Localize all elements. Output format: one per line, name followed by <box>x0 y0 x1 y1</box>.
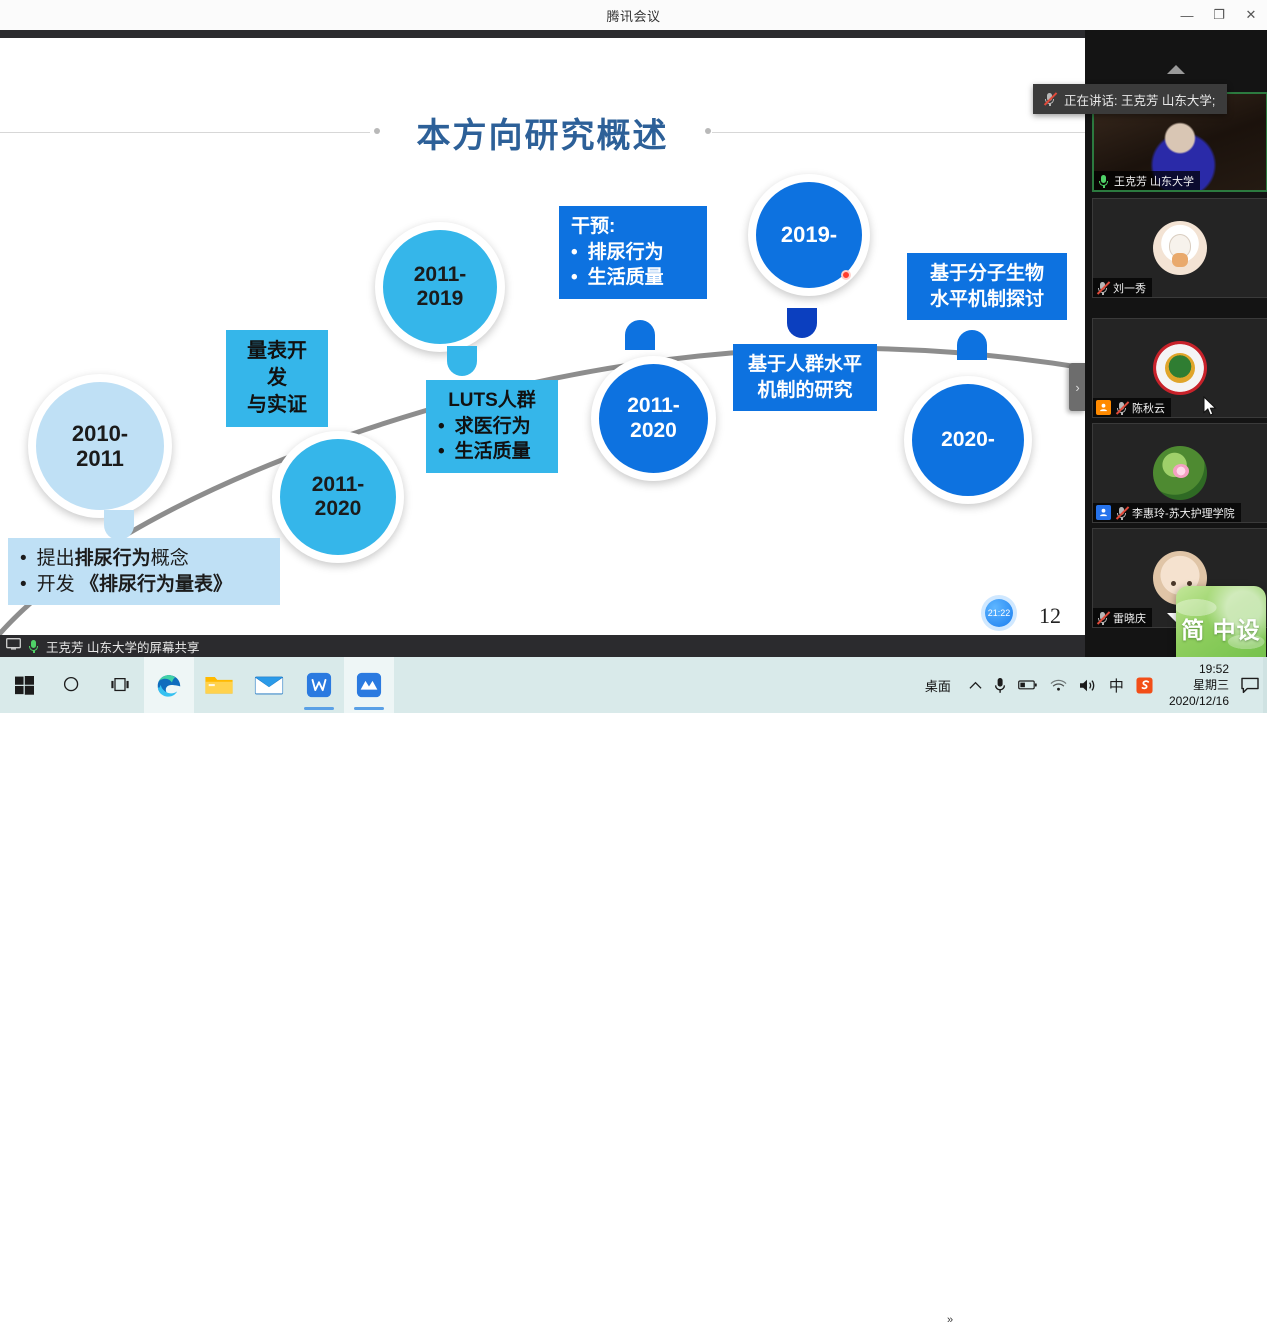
microphone-icon <box>1097 174 1110 188</box>
box-population-level-line2: 机制的研究 <box>745 378 865 404</box>
windows-taskbar[interactable]: » 桌面 <box>0 657 1267 713</box>
taskbar-app-file-explorer[interactable] <box>194 657 244 713</box>
taskbar-app-mail[interactable] <box>244 657 294 713</box>
box-intervention-bullets: 排尿行为 生活质量 <box>571 240 695 291</box>
microphone-icon <box>27 639 40 653</box>
taskbar-app-edge[interactable] <box>144 657 194 713</box>
list-item: 生活质量 <box>571 265 695 291</box>
box-scale-development-line1: 量表开发 <box>238 338 316 392</box>
sogou-input-icon[interactable] <box>1136 677 1153 694</box>
participant-tile-chen[interactable]: 陈秋云 <box>1092 318 1267 418</box>
box-luts[interactable]: LUTS人群 求医行为 生活质量 <box>426 380 558 473</box>
clock-time: 19:52 <box>1199 661 1229 677</box>
bubble-drip-2020 <box>957 330 987 360</box>
participant-namebar: 陈秋云 <box>1093 398 1171 417</box>
share-top-strip <box>0 30 1085 38</box>
taskbar-clock[interactable]: 19:52 星期三 2020/12/16 <box>1169 661 1229 710</box>
window-title: 腾讯会议 <box>606 6 660 25</box>
box-scale-development[interactable]: 量表开发 与实证 <box>226 330 328 427</box>
monitor-icon <box>6 637 21 655</box>
bubble-2019[interactable]: 2019- <box>748 174 870 296</box>
wps-icon <box>306 672 332 698</box>
bubble-2020[interactable]: 2020- <box>904 376 1032 504</box>
microphone-muted-icon <box>1115 401 1128 415</box>
battery-icon[interactable] <box>1018 679 1038 691</box>
meeting-window-body: 本方向研究概述 2010- 2011 2011- 2020 2011- 2019… <box>0 30 1267 657</box>
sidebar-collapse-button[interactable]: › <box>1069 363 1085 411</box>
box-outcomes[interactable]: 提出排尿行为概念 开发 《排尿行为量表》 <box>8 538 280 605</box>
taskbar-running-indicator <box>354 707 384 710</box>
task-view-icon <box>110 676 130 694</box>
microphone-muted-icon <box>1043 92 1056 106</box>
participant-tile-li[interactable]: 李惠玲-苏大护理学院 <box>1092 423 1267 523</box>
participant-namebar: 刘一秀 <box>1093 278 1152 297</box>
bubble-2011-2020-mid[interactable]: 2011- 2020 <box>591 356 716 481</box>
bubble-2011-2019[interactable]: 2011- 2019 <box>375 222 505 352</box>
tencent-meeting-icon <box>356 672 382 698</box>
participant-name: 王克芳 山东大学 <box>1114 173 1194 189</box>
bubble-drip-2011-2019 <box>447 346 477 376</box>
start-button[interactable] <box>0 657 48 713</box>
list-item: 生活质量 <box>438 439 546 465</box>
avatar <box>1153 221 1207 275</box>
avatar <box>1153 446 1207 500</box>
participant-name: 李惠玲-苏大护理学院 <box>1132 505 1235 521</box>
list-item: 提出排尿行为概念 <box>20 546 268 572</box>
floating-app-thumbnail-label: 简 中设 <box>1181 619 1260 642</box>
search-icon <box>63 676 81 694</box>
taskbar-pinned-apps <box>0 657 394 713</box>
bubble-drip-2010-2011 <box>104 510 134 540</box>
box-molecular-level-line2: 水平机制探讨 <box>919 287 1055 313</box>
participant-name: 陈秋云 <box>1132 400 1165 416</box>
bubble-drip-2019 <box>787 308 817 338</box>
screen-share-label: 王克芳 山东大学的屏幕共享 <box>46 637 199 656</box>
show-desktop-sliver[interactable] <box>1263 657 1267 713</box>
triangle-up-icon <box>1167 65 1185 74</box>
box-population-level[interactable]: 基于人群水平 机制的研究 <box>733 344 877 411</box>
notifications-icon[interactable] <box>1241 677 1259 694</box>
bubble-drip-2011-2020-mid <box>625 320 655 350</box>
clock-date: 2020/12/16 <box>1169 693 1229 709</box>
restore-button[interactable]: ❐ <box>1203 0 1235 30</box>
search-button[interactable] <box>48 657 96 713</box>
folder-icon <box>204 672 234 698</box>
box-luts-bullets: 求医行为 生活质量 <box>438 414 546 465</box>
mouse-cursor <box>1203 396 1217 417</box>
list-item: 求医行为 <box>438 414 546 440</box>
bubble-2010-2011[interactable]: 2010- 2011 <box>28 374 172 518</box>
clock-weekday: 星期三 <box>1193 677 1229 693</box>
screen-share-footer: 王克芳 山东大学的屏幕共享 <box>0 635 1085 657</box>
meeting-timer-badge: 21:22 <box>985 599 1013 627</box>
cohost-badge-icon <box>1096 505 1111 520</box>
wifi-icon[interactable] <box>1050 679 1067 692</box>
bubble-2011-2020-left[interactable]: 2011- 2020 <box>272 431 404 563</box>
close-button[interactable]: ✕ <box>1235 0 1267 30</box>
active-speaker-tooltip: 正在讲话: 王克芳 山东大学; <box>1033 84 1227 114</box>
box-intervention-heading: 干预: <box>571 214 695 240</box>
taskbar-running-indicator <box>304 707 334 710</box>
minimize-button[interactable]: — <box>1171 0 1203 30</box>
participant-video-sidebar[interactable]: 王克芳 山东大学 刘一秀 陈秋云 <box>1085 30 1267 657</box>
microphone-tray-icon[interactable] <box>994 677 1006 694</box>
participant-name: 刘一秀 <box>1113 280 1146 296</box>
list-item: 排尿行为 <box>571 240 695 266</box>
shared-screen-slide[interactable]: 本方向研究概述 2010- 2011 2011- 2020 2011- 2019… <box>0 38 1085 657</box>
system-tray: 桌面 <box>919 657 1267 713</box>
avatar <box>1153 341 1207 395</box>
box-molecular-level-line1: 基于分子生物 <box>919 261 1055 287</box>
laser-pointer-dot <box>841 270 851 280</box>
participant-namebar: 王克芳 山东大学 <box>1094 171 1200 190</box>
sidebar-scroll-up-button[interactable] <box>1085 56 1267 82</box>
tray-overflow-glyph[interactable]: » <box>947 1314 953 1326</box>
microphone-muted-icon <box>1096 281 1109 295</box>
taskbar-app-tencent-meeting[interactable] <box>344 657 394 713</box>
slide-page-number: 12 <box>1039 603 1061 629</box>
edge-icon <box>154 670 184 700</box>
participant-namebar: 李惠玲-苏大护理学院 <box>1093 503 1241 522</box>
tray-chevron-up-icon[interactable] <box>969 681 982 690</box>
task-view-button[interactable] <box>96 657 144 713</box>
host-badge-icon <box>1096 400 1111 415</box>
window-title-bar: 腾讯会议 — ❐ ✕ <box>0 0 1267 30</box>
box-intervention[interactable]: 干预: 排尿行为 生活质量 <box>559 206 707 299</box>
participant-tile-liu[interactable]: 刘一秀 <box>1092 198 1267 298</box>
mail-icon <box>254 673 284 697</box>
ime-chinese-icon[interactable]: 中 <box>1109 675 1124 696</box>
box-population-level-line1: 基于人群水平 <box>745 352 865 378</box>
show-desktop-button[interactable]: 桌面 <box>919 676 957 695</box>
box-luts-heading: LUTS人群 <box>438 388 546 414</box>
box-molecular-level[interactable]: 基于分子生物 水平机制探讨 <box>907 253 1067 320</box>
taskbar-app-wps[interactable] <box>294 657 344 713</box>
list-item: 开发 《排尿行为量表》 <box>20 572 268 598</box>
title-rule-right <box>712 132 1085 133</box>
title-dot-right <box>705 128 711 134</box>
window-controls: — ❐ ✕ <box>1171 0 1267 30</box>
volume-icon[interactable] <box>1079 678 1097 693</box>
windows-logo-icon <box>15 676 34 695</box>
box-scale-development-line2: 与实证 <box>238 392 316 419</box>
active-speaker-label: 正在讲话: 王克芳 山东大学; <box>1064 90 1215 109</box>
box-outcomes-bullets: 提出排尿行为概念 开发 《排尿行为量表》 <box>20 546 268 597</box>
microphone-muted-icon <box>1115 506 1128 520</box>
